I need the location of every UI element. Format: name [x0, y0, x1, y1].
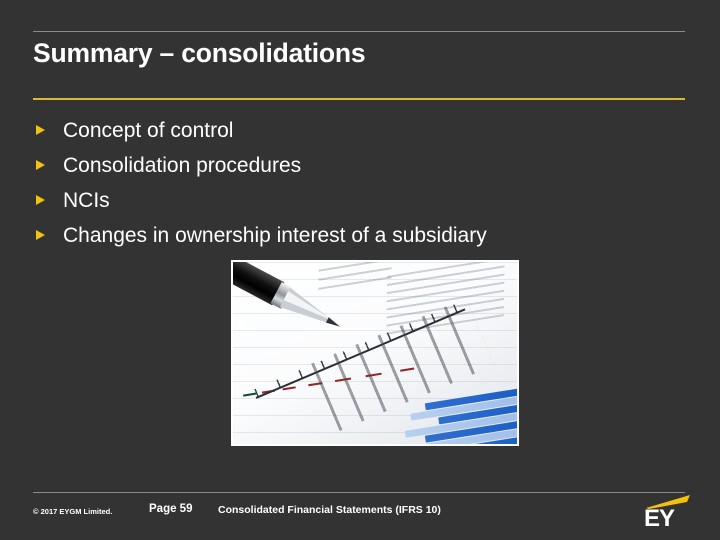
list-item: Concept of control: [33, 117, 673, 152]
slide-footer: © 2017 EYGM Limited. Page 59 Consolidate…: [33, 503, 685, 525]
copyright-text: © 2017 EYGM Limited.: [33, 507, 112, 516]
list-item-label: Concept of control: [63, 117, 673, 145]
bullet-list: Concept of control Consolidation procedu…: [33, 117, 673, 257]
page-title: Summary – consolidations: [33, 36, 673, 70]
list-item-label: Changes in ownership interest of a subsi…: [63, 222, 673, 250]
list-item-label: NCIs: [63, 187, 673, 215]
list-item: NCIs: [33, 187, 673, 222]
page-number: Page 59: [149, 503, 192, 515]
footer-subject: Consolidated Financial Statements (IFRS …: [218, 504, 441, 516]
photo-canvas: [233, 262, 517, 444]
ey-wordmark: EY: [644, 506, 674, 532]
triangle-right-icon: [33, 160, 63, 170]
ey-logo: EY: [641, 495, 695, 535]
list-item: Changes in ownership interest of a subsi…: [33, 222, 673, 257]
triangle-right-icon: [33, 125, 63, 135]
list-item-label: Consolidation procedures: [63, 152, 673, 180]
triangle-right-icon: [33, 195, 63, 205]
title-accent-divider: [33, 98, 685, 100]
financial-chart-photo: [231, 260, 519, 446]
presentation-slide: Summary – consolidations Concept of cont…: [0, 0, 720, 540]
list-item: Consolidation procedures: [33, 152, 673, 187]
footer-divider: [33, 492, 685, 493]
triangle-right-icon: [33, 230, 63, 240]
title-top-divider: [33, 31, 685, 32]
